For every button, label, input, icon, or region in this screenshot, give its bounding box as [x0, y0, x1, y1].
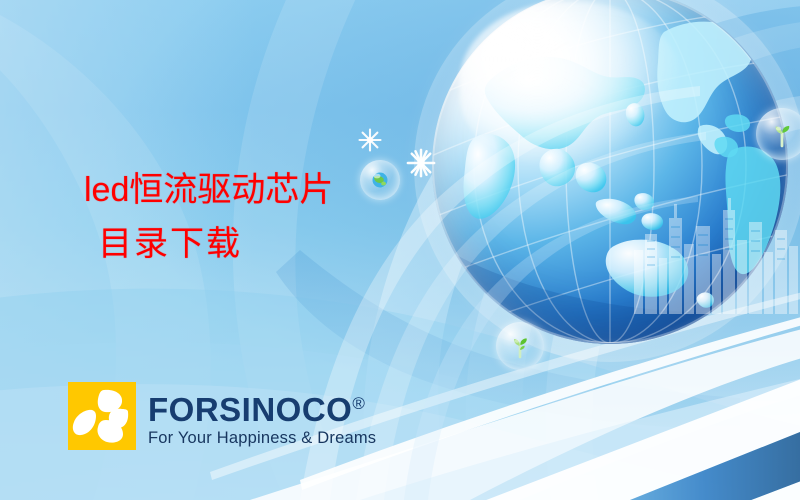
sparkle-star-icon [358, 128, 382, 152]
headline-text: led恒流驱动芯片 目录下载 [84, 163, 333, 271]
sprout-leaf-icon [768, 120, 796, 148]
city-skyline-icon [630, 196, 800, 314]
bubble-with-sprout-icon [496, 322, 544, 370]
bubble-with-globe-icon [360, 160, 400, 200]
brand-logotype: FORSINOCO® For Your Happiness & Dreams [148, 385, 376, 448]
promo-banner: led恒流驱动芯片 目录下载 FORSINOCO® For Your Happi… [0, 0, 800, 500]
mini-globe-icon [370, 170, 390, 190]
sparkle-star-icon [406, 148, 436, 178]
brand-name-text: FORSINOCO [148, 391, 352, 428]
brand-tagline: For Your Happiness & Dreams [148, 428, 376, 448]
pinwheel-petals-icon [68, 382, 136, 450]
brand-name: FORSINOCO® [148, 387, 376, 427]
brand-logo: FORSINOCO® For Your Happiness & Dreams [68, 382, 376, 450]
trademark-symbol: ® [352, 394, 365, 413]
headline-line-1: led恒流驱动芯片 [84, 163, 333, 217]
headline-line-2: 目录下载 [84, 217, 333, 271]
sprout-leaf-icon [507, 333, 533, 359]
bubble-with-sprout-icon [756, 108, 800, 160]
